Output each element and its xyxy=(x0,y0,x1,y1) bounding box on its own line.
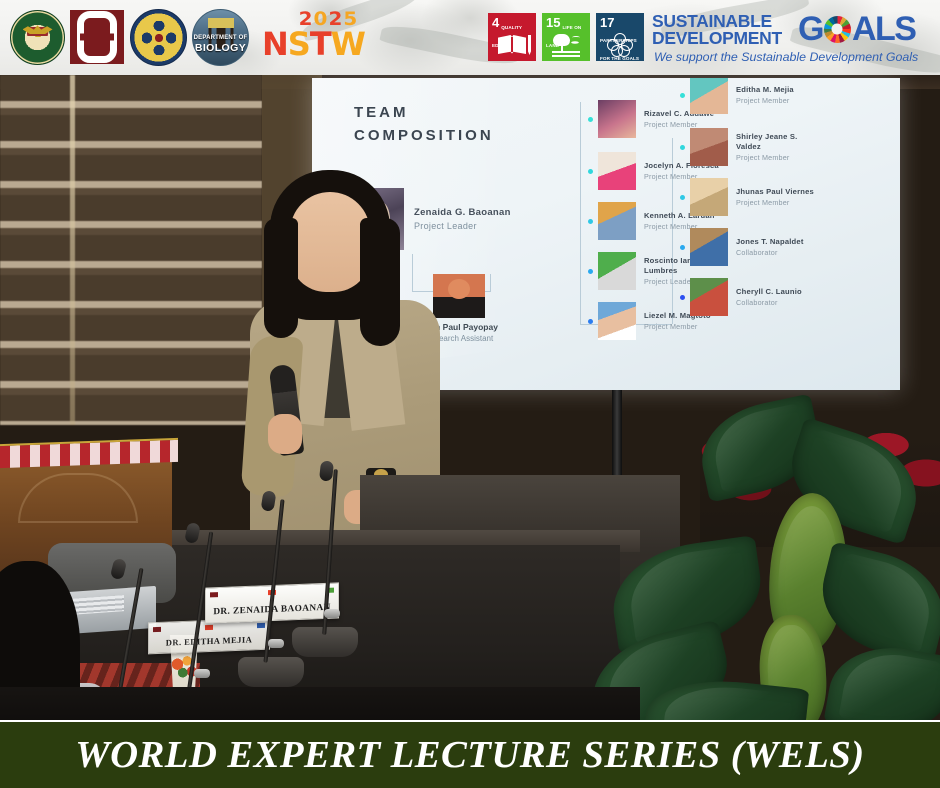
nameplate-secondary-text: DR. EDITHA MEJIA xyxy=(149,634,269,649)
bullet-dot-icon xyxy=(680,245,685,250)
goals-g-letter: G xyxy=(798,12,823,46)
member-role: Project Member xyxy=(644,322,711,331)
list-item: Cheryll C. Launio Collaborator xyxy=(680,278,814,316)
sdg-15-life-on-land-tile: 15 LIFE ON LAND xyxy=(542,13,590,61)
member-photo xyxy=(690,278,728,316)
speaker-hair-left xyxy=(264,218,298,338)
speaker-hand-holding-mic xyxy=(268,414,302,454)
member-name: Editha M. Mejia xyxy=(736,85,794,94)
member-role: Project Member xyxy=(736,198,814,207)
member-photo xyxy=(598,202,636,240)
member-role: Collaborator xyxy=(736,248,804,257)
biology-logo-text: DEPARTMENT OF BIOLOGY xyxy=(193,35,248,54)
sdg-15-number: 15 xyxy=(546,16,560,29)
member-name: Shirley Jeane S. Valdez xyxy=(736,132,798,151)
speaker-hair-right xyxy=(360,218,400,346)
member-photo xyxy=(690,228,728,266)
tropical-leaf xyxy=(810,541,940,665)
sdg-17-partnerships-tile: 17 PARTNERSHIPS FOR THE GOALS xyxy=(596,13,644,61)
speaker-face xyxy=(290,192,370,292)
member-photo xyxy=(690,178,728,216)
slide-title-line1: TEAM xyxy=(354,102,494,125)
screen-support-post xyxy=(612,390,622,486)
bullet-dot-icon xyxy=(588,117,593,122)
window-blinds xyxy=(0,75,262,425)
member-name: Jhunas Paul Viernes xyxy=(736,187,814,196)
biology-word: BIOLOGY xyxy=(193,42,248,54)
member-role: Project Member xyxy=(736,153,798,162)
org-connector-spine xyxy=(580,102,581,324)
member-role: Collaborator xyxy=(736,298,802,307)
goals-als-letters: ALS xyxy=(852,12,916,46)
member-photo xyxy=(690,128,728,166)
bullet-dot-icon xyxy=(588,319,593,324)
open-book-icon xyxy=(488,33,536,57)
table-edge-shadow xyxy=(0,687,640,720)
member-photo xyxy=(690,78,728,114)
interlocking-rings-icon xyxy=(596,33,644,57)
header-banner: DEPARTMENT OF BIOLOGY 2025 NSTW 4 QUALIT… xyxy=(0,0,940,75)
bullet-dot-icon xyxy=(680,93,685,98)
caption-bar: WORLD EXPERT LECTURE SERIES (WELS) xyxy=(0,722,940,788)
list-item: Shirley Jeane S. Valdez Project Member xyxy=(680,128,814,166)
biology-mini-seals xyxy=(208,18,234,28)
member-role: Project Member xyxy=(736,96,794,105)
bullet-dot-icon xyxy=(588,269,593,274)
member-name: Jones T. Napaldet xyxy=(736,237,804,246)
nstw-2025-logo-icon: 2025 NSTW xyxy=(262,8,394,68)
slide-member-column-right: Editha M. Mejia Project Member Shirley J… xyxy=(680,78,814,322)
bullet-dot-icon xyxy=(680,195,685,200)
college-of-science-seal-icon xyxy=(130,9,187,66)
event-photo-card: DEPARTMENT OF BIOLOGY 2025 NSTW 4 QUALIT… xyxy=(0,0,940,788)
slide-title: TEAM COMPOSITION xyxy=(354,102,494,147)
sdg-tagline: We support the Sustainable Development G… xyxy=(654,50,918,64)
sdg-goals-word: G ALS xyxy=(798,12,915,46)
sdg-color-wheel-icon xyxy=(824,16,851,43)
department-of-biology-logo-icon: DEPARTMENT OF BIOLOGY xyxy=(192,9,249,66)
list-item: Editha M. Mejia Project Member xyxy=(680,78,814,114)
list-item: Jhunas Paul Viernes Project Member xyxy=(680,178,814,216)
sdg-wordmark-line2: DEVELOPMENT xyxy=(652,30,782,47)
member-name: Cheryll C. Launio xyxy=(736,287,802,296)
member-photo xyxy=(598,152,636,190)
sdg-4-number: 4 xyxy=(492,16,499,29)
up-monogram-icon xyxy=(70,10,124,64)
sdg-17-number: 17 xyxy=(600,16,614,29)
bullet-dot-icon xyxy=(588,219,593,224)
tree-birds-icon xyxy=(542,33,590,57)
list-item: Jones T. Napaldet Collaborator xyxy=(680,228,814,266)
nstw-acronym: NSTW xyxy=(262,28,365,60)
event-photograph: TEAM COMPOSITION Zenaida G. Baoanan Proj… xyxy=(0,75,940,720)
member-photo xyxy=(598,302,636,340)
bullet-dot-icon xyxy=(680,145,685,150)
bullet-dot-icon xyxy=(588,169,593,174)
sdg-4-quality-education-tile: 4 QUALITY EDUCATION xyxy=(488,13,536,61)
up-seal-icon xyxy=(10,10,65,65)
slide-title-line2: COMPOSITION xyxy=(354,125,494,148)
member-photo xyxy=(598,252,636,290)
member-photo xyxy=(598,100,636,138)
biology-dept-line: DEPARTMENT OF xyxy=(194,35,248,41)
bullet-dot-icon xyxy=(680,295,685,300)
caption-text: WORLD EXPERT LECTURE SERIES (WELS) xyxy=(75,733,864,777)
sdg-wordmark: SUSTAINABLE DEVELOPMENT G ALS We support… xyxy=(652,12,938,66)
